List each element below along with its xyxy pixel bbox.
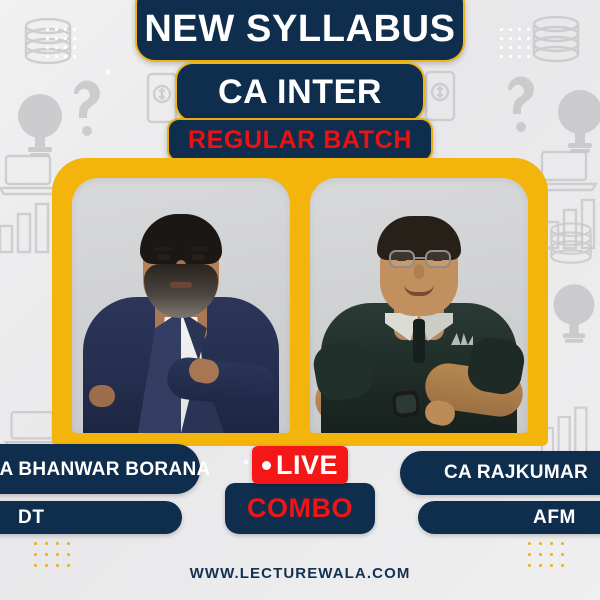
faculty-photo-frame bbox=[52, 158, 548, 446]
live-label: LIVE bbox=[276, 450, 338, 481]
coins-stack-icon bbox=[546, 222, 596, 266]
faculty-subject-plate-right: AFM bbox=[418, 501, 600, 534]
headline-text-ca-inter: CA INTER bbox=[175, 62, 425, 122]
live-dot-icon bbox=[262, 461, 271, 470]
combo-badge: COMBO bbox=[225, 483, 375, 534]
faculty-photo-bhanwar-borana bbox=[72, 178, 290, 433]
promo-poster: NEW SYLLABUS CA INTER REGULAR BATCH bbox=[0, 0, 600, 600]
faculty-subject-right: AFM bbox=[533, 507, 576, 529]
faculty-subject-plate-left: DT bbox=[0, 501, 182, 534]
bar-chart-icon bbox=[540, 196, 600, 252]
live-badge: LIVE bbox=[252, 446, 348, 484]
headline-text-regular-batch: REGULAR BATCH bbox=[167, 118, 433, 162]
headline-badge-ca-inter: CA INTER bbox=[0, 62, 600, 122]
headline-text-new-syllabus: NEW SYLLABUS bbox=[135, 0, 465, 62]
faculty-name-right: CA RAJKUMAR bbox=[444, 462, 588, 484]
website-url: WWW.LECTUREWALA.COM bbox=[0, 565, 600, 582]
headline-badge-regular-batch: REGULAR BATCH bbox=[0, 118, 600, 162]
headline-badge-new-syllabus: NEW SYLLABUS bbox=[0, 0, 600, 62]
faculty-name-left: CA BHANWAR BORANA bbox=[0, 459, 211, 480]
bar-chart-icon bbox=[0, 200, 58, 256]
light-bulb-icon bbox=[548, 282, 600, 344]
faculty-photo-rajkumar bbox=[310, 178, 528, 433]
faculty-name-plate-right: CA RAJKUMAR bbox=[400, 451, 600, 495]
faculty-subject-left: DT bbox=[18, 507, 45, 529]
faculty-name-plate-left: CA BHANWAR BORANA bbox=[0, 444, 200, 494]
combo-label: COMBO bbox=[247, 493, 353, 524]
